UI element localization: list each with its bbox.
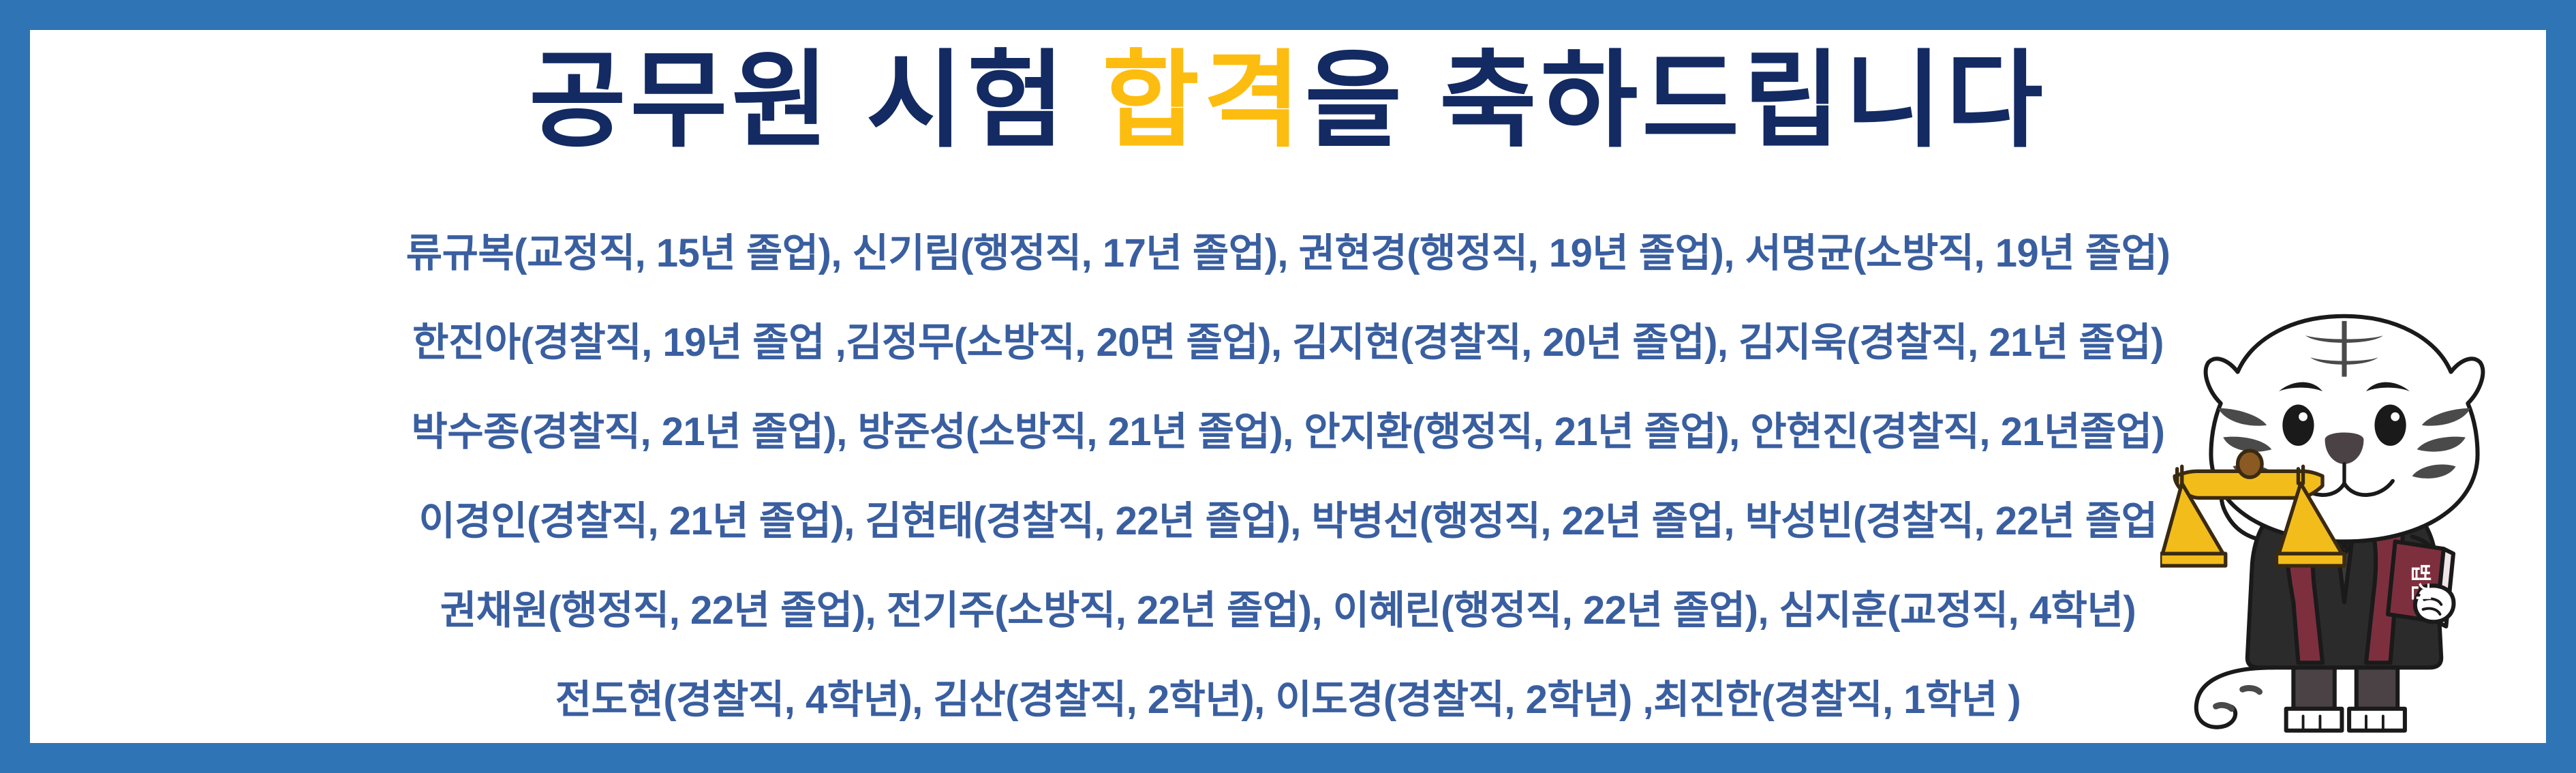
title-part-1: 공무원 시험 bbox=[529, 42, 1102, 160]
name-line: 류규복(교정직, 15년 졸업), 신기림(행정직, 17년 졸업), 권현경(… bbox=[46, 209, 2530, 298]
page-title: 공무원 시험 합격을 축하드립니다 bbox=[30, 33, 2546, 169]
banner-frame: 공무원 시험 합격을 축하드립니다 류규복(교정직, 15년 졸업), 신기림(… bbox=[0, 0, 2576, 773]
banner-inner: 공무원 시험 합격을 축하드립니다 류규복(교정직, 15년 졸업), 신기림(… bbox=[30, 30, 2546, 743]
book-label: 법전 bbox=[2408, 563, 2432, 601]
name-line: 전도현(경찰직, 4학년), 김산(경찰직, 2학년), 이도경(경찰직, 2학… bbox=[46, 655, 2530, 743]
name-line: 한진아(경찰직, 19년 졸업 ,김정무(소방직, 20면 졸업), 김지현(경… bbox=[46, 298, 2530, 387]
title-highlight: 합격 bbox=[1102, 42, 1304, 160]
name-line: 이경인(경찰직, 21년 졸업), 김현태(경찰직, 22년 졸업), 박병선(… bbox=[46, 476, 2530, 566]
name-line: 권채원(행정직, 22년 졸업), 전기주(소방직, 22년 졸업), 이혜린(… bbox=[46, 566, 2530, 655]
title-part-2: 을 축하드립니다 bbox=[1305, 42, 2047, 160]
name-line: 박수종(경찰직, 21년 졸업), 방준성(소방직, 21년 졸업), 안지환(… bbox=[46, 387, 2530, 476]
tiger-judge-mascot-icon: 법전 bbox=[2160, 304, 2528, 740]
